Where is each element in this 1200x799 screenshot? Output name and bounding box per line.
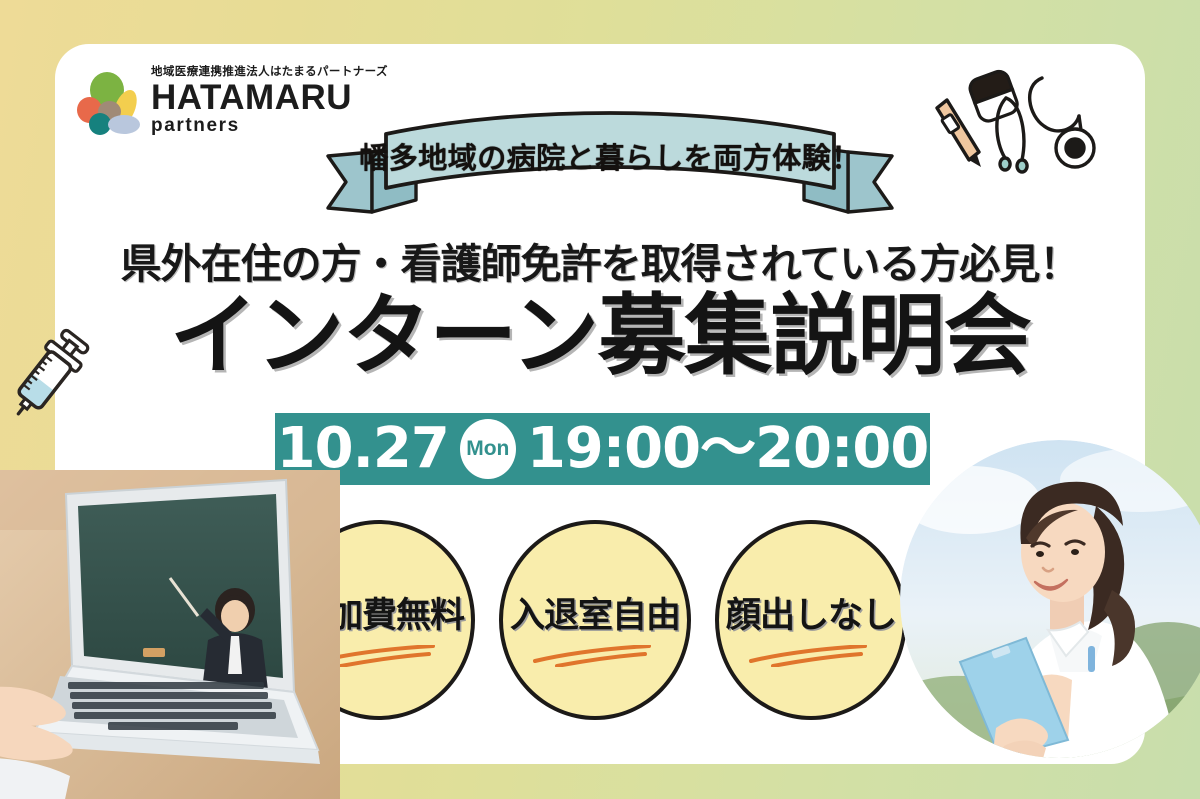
event-day-of-week-badge: Mon [460, 419, 516, 479]
feature-badges: 参加費無料 入退室自由 顔出しなし [273, 520, 933, 740]
feature-badge: 顔出しなし [715, 520, 907, 720]
feature-badge: 入退室自由 [499, 520, 691, 720]
underline-stroke-icon [531, 645, 659, 667]
event-time: 19:00〜20:00 [527, 421, 929, 477]
ribbon-text: 幡多地域の病院と暮らしを両方体験！ [320, 108, 900, 218]
event-datetime-bar: 10.27 Mon 19:00〜20:00 [275, 413, 930, 485]
poster-subtitle: 県外在住の方・看護師免許を取得されている方必見！ [55, 230, 1145, 290]
syringe-icon [2, 322, 102, 427]
online-lecture-laptop-photo [0, 470, 340, 799]
feature-badge-label: 顔出しなし [726, 587, 896, 638]
poster-canvas: 地域医療連携推進法人はたまるパートナーズ HATAMARU partners [0, 0, 1200, 799]
feature-badge-label: 入退室自由 [510, 587, 680, 638]
event-date: 10.27 [277, 421, 449, 477]
poster-title: インターン募集説明会 [55, 287, 1145, 386]
underline-stroke-icon [747, 645, 875, 667]
logo-mark-icon [75, 71, 137, 133]
capsule-pill-icon [967, 69, 1020, 124]
smiling-nurse-photo [900, 440, 1200, 758]
logo-org-line: 地域医療連携推進法人はたまるパートナーズ [151, 66, 388, 79]
event-ribbon: 幡多地域の病院と暮らしを両方体験！ [320, 108, 900, 218]
thermometer-icon [937, 100, 981, 167]
medical-icons-group [923, 60, 1123, 210]
